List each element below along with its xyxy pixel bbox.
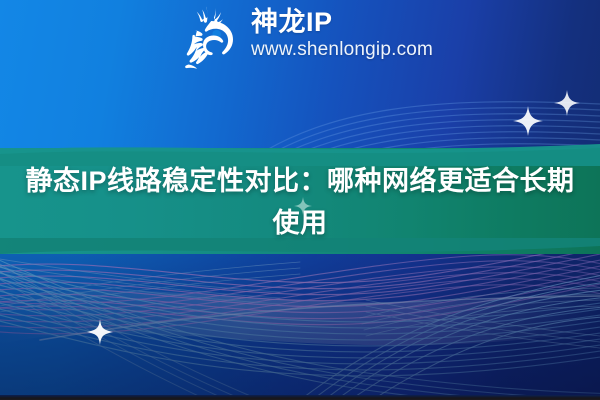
dragon-head-icon: [183, 4, 241, 72]
bottom-edge: [0, 395, 600, 400]
promo-banner: 神龙IP www.shenlongip.com 静态IP线路稳定性对比：哪种网络…: [0, 0, 600, 400]
brand-name: 神龙IP: [251, 7, 433, 37]
brand-logo: 神龙IP www.shenlongip.com: [183, 4, 433, 72]
page-title: 静态IP线路稳定性对比：哪种网络更适合长期使用: [0, 160, 600, 244]
brand-url: www.shenlongip.com: [251, 38, 433, 62]
